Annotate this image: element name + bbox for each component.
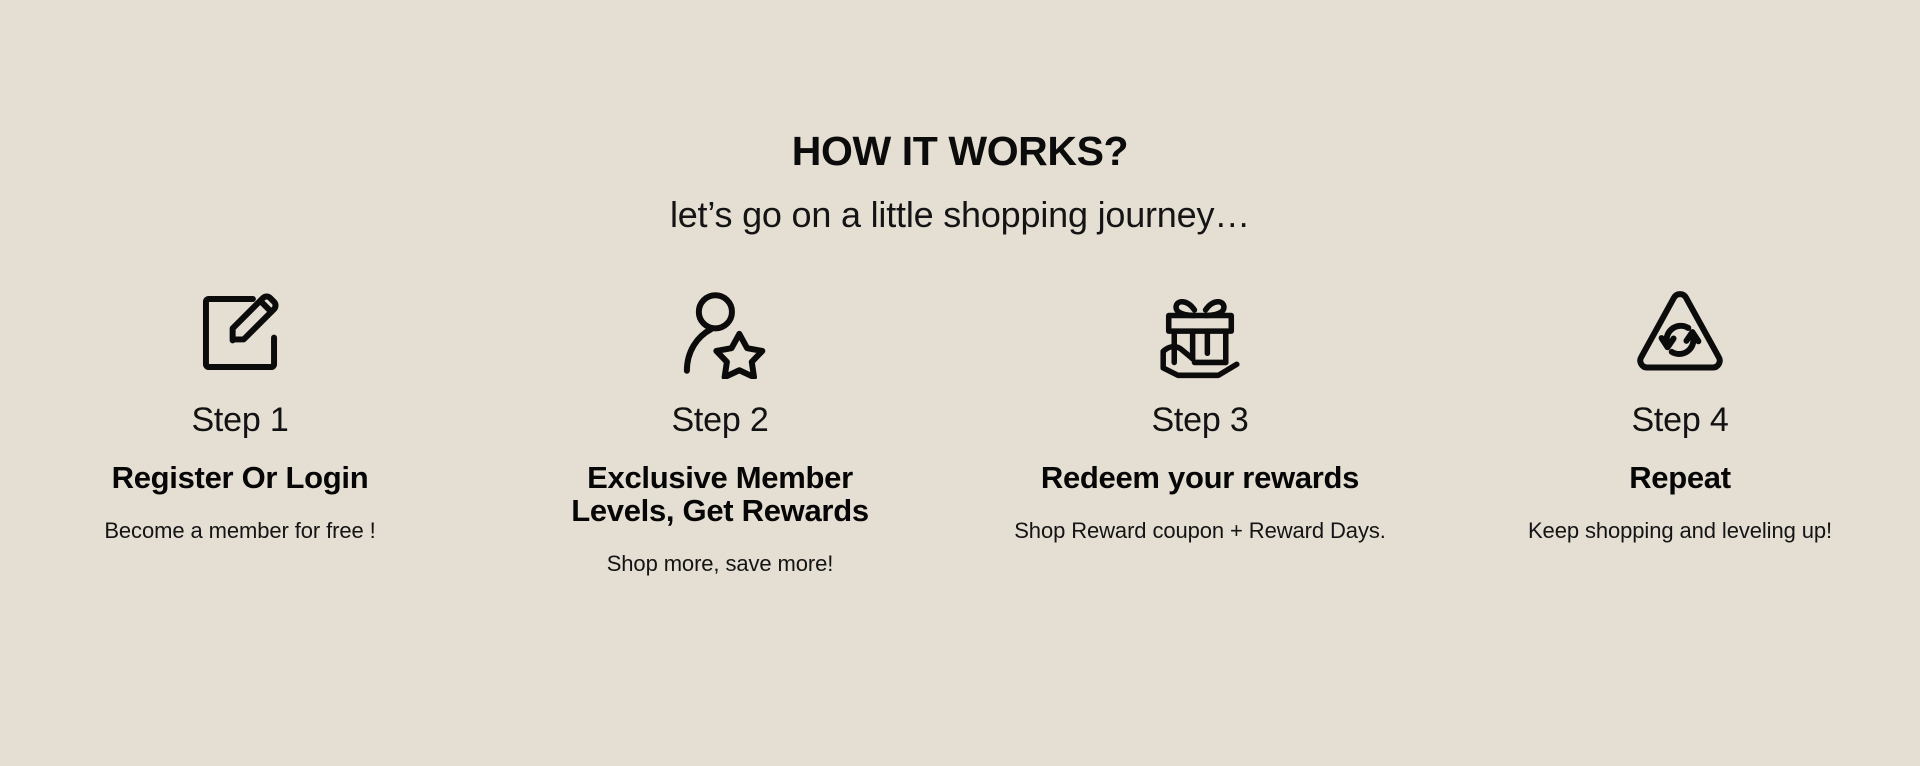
step-heading: Exclusive Member Levels, Get Rewards [548,462,893,528]
page-title: HOW IT WORKS? [0,131,1920,172]
page-subtitle: let’s go on a little shopping journey… [0,197,1920,233]
step-description: Become a member for free ! [104,517,375,545]
step-description: Shop more, save more! [607,550,834,578]
steps-row: Step 1 Register Or Login Become a member… [0,281,1920,577]
step-heading: Register Or Login [112,462,369,495]
how-it-works-section: HOW IT WORKS? let’s go on a little shopp… [0,0,1920,766]
step-number: Step 4 [1631,403,1728,437]
gift-in-hand-icon [1154,281,1246,385]
step-heading: Repeat [1629,462,1731,495]
edit-square-icon [194,281,286,385]
step-number: Step 3 [1151,403,1248,437]
step-card-3: Step 3 Redeem your rewards Shop Reward c… [960,281,1440,544]
step-number: Step 1 [191,403,288,437]
step-card-2: Step 2 Exclusive Member Levels, Get Rewa… [480,281,960,577]
step-description: Shop Reward coupon + Reward Days. [1014,517,1386,545]
recycle-triangle-icon [1634,281,1726,385]
step-card-4: Step 4 Repeat Keep shopping and leveling… [1440,281,1920,544]
step-description: Keep shopping and leveling up! [1528,517,1832,545]
heading-block: HOW IT WORKS? let’s go on a little shopp… [0,131,1920,233]
person-star-icon [674,281,766,385]
step-card-1: Step 1 Register Or Login Become a member… [0,281,480,544]
step-number: Step 2 [671,403,768,437]
step-heading: Redeem your rewards [1041,462,1359,495]
